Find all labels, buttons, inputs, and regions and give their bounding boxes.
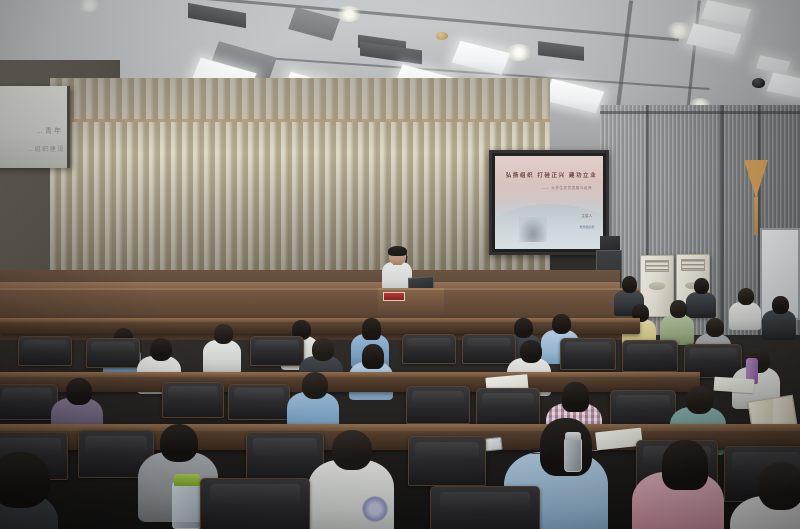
lecture-seat: [622, 340, 678, 372]
air-vent: [538, 41, 584, 61]
light-panel: [544, 79, 605, 114]
person-torso: [729, 302, 761, 330]
person-head: [686, 386, 713, 414]
lecture-seat: [408, 436, 486, 486]
secondary-projection-screen: …青年 …组织建设: [0, 86, 70, 168]
downlight: [666, 22, 692, 39]
desk-surface: [0, 372, 700, 377]
lecture-seat: [200, 478, 310, 529]
person-head: [66, 378, 92, 405]
person-head: [0, 452, 50, 508]
person-head: [706, 318, 724, 337]
person-head: [332, 430, 372, 470]
eyeglasses-icon: [530, 448, 546, 454]
slide-footer: 党委组织部: [579, 225, 594, 229]
person-head: [312, 338, 334, 361]
lecture-seat: [86, 338, 140, 368]
person-torso: [762, 310, 796, 340]
bottle-cap: [565, 432, 581, 440]
lecture-seat: [430, 486, 540, 529]
name-plate: [383, 292, 405, 301]
person-head: [552, 314, 571, 334]
tshirt-logo: [362, 496, 388, 522]
person-head: [670, 300, 687, 318]
person-head: [694, 278, 709, 294]
downlight: [78, 0, 100, 12]
lecture-seat: [250, 336, 304, 366]
notebook-paper: [714, 377, 755, 394]
air-vent: [188, 3, 246, 28]
smoke-detector-icon: [436, 32, 448, 40]
slide-title: 弘扬组织 打硅正兴 建功立业: [506, 171, 592, 179]
secondary-screen-line-2: …组织建设: [27, 144, 65, 153]
air-vent: [360, 42, 422, 65]
person-head: [562, 382, 589, 412]
wall-decoration: [744, 160, 768, 198]
bench-desk: [0, 318, 640, 334]
lecture-seat: [406, 386, 470, 424]
person-head: [514, 318, 533, 338]
person-head: [758, 462, 800, 510]
presenter-hair: [388, 246, 407, 256]
person-head: [520, 340, 542, 363]
ac-outlet: [649, 282, 664, 289]
lecture-seat: [162, 382, 224, 418]
person-head: [302, 372, 328, 399]
bottle-cap: [174, 474, 200, 486]
person-head: [772, 296, 789, 314]
ac-grille: [645, 260, 669, 272]
lecture-seat: [476, 388, 540, 426]
slide-photo-graphic: [519, 217, 547, 241]
lecture-seat: [228, 384, 290, 420]
lecture-seat: [560, 338, 616, 370]
person-head: [214, 324, 233, 344]
curtain-shading: [50, 78, 550, 293]
secondary-screen-line-1: …青年: [36, 126, 63, 136]
light-panel: [767, 72, 800, 99]
projection-screen: 弘扬组织 打硅正兴 建功立业 —— 大学生党员发展与培养 主讲人 党委组织部: [489, 150, 609, 255]
downlight: [336, 6, 362, 22]
person-head: [150, 338, 172, 361]
lecture-seat: [402, 334, 456, 364]
slide-subtitle: —— 大学生党员发展与培养: [512, 185, 592, 190]
wall-decoration-tail: [754, 197, 758, 235]
slide-content: 弘扬组织 打硅正兴 建功立业 —— 大学生党员发展与培养 主讲人 党委组织部: [495, 156, 603, 249]
lecture-hall-photo: …青年 …组织建设 弘扬组织 打硅正兴 建功立业 —— 大学生党员发展与培养 主…: [0, 0, 800, 529]
lecture-seat: [0, 384, 58, 420]
ac-grille: [681, 259, 705, 271]
person-head: [160, 424, 198, 462]
person-torso: [203, 340, 241, 374]
person-head: [362, 344, 384, 369]
lecture-seat: [18, 336, 72, 366]
light-panel: [288, 7, 340, 41]
water-bottle: [172, 482, 202, 529]
slide-presenter: 主讲人: [581, 214, 592, 219]
dome-camera-icon: [752, 78, 765, 88]
person-head: [622, 276, 637, 293]
desk-surface: [0, 318, 640, 322]
person-head: [662, 440, 708, 490]
water-bottle: [564, 438, 582, 472]
person-head: [738, 288, 754, 305]
light-panel: [701, 0, 751, 28]
bench-desk: [0, 372, 700, 392]
downlight: [506, 44, 532, 61]
person-head: [362, 318, 381, 340]
person-torso: [686, 292, 716, 318]
light-panel: [756, 55, 791, 74]
lecture-seat: [462, 334, 516, 364]
